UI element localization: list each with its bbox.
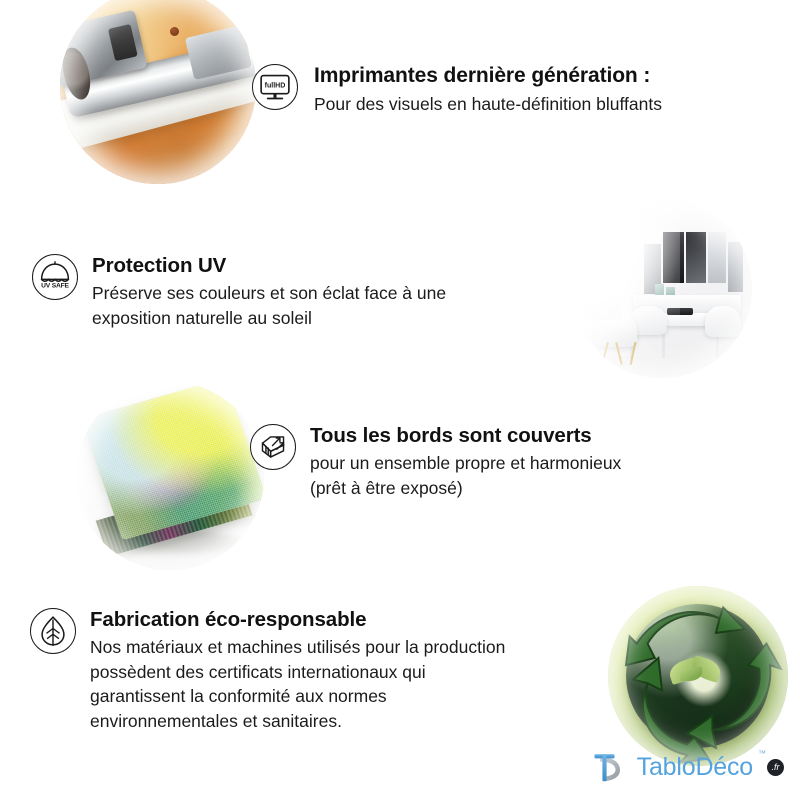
feature-eco-manufacturing-body: Nos matériaux et machines utilisés pour … (90, 635, 505, 733)
white-dining-room-canvas-panels-photo (572, 198, 752, 378)
feature-uv-protection-body: Préserve ses couleurs et son éclat face … (92, 281, 446, 330)
tld-badge: .fr (767, 759, 784, 776)
canvas-wrap-edges-icon (250, 424, 296, 470)
feature-eco-manufacturing-title: Fabrication éco-responsable (90, 608, 505, 632)
brand-logo[interactable]: TabloDéco ™ .fr (590, 748, 784, 786)
feature-uv-protection: UV SAFE Protection UV Préserve ses coule… (32, 254, 446, 330)
fullhd-label: fullHD (265, 83, 286, 90)
fullhd-monitor-icon: fullHD (252, 64, 298, 110)
uv-safe-parasol-icon: UV SAFE (32, 254, 78, 300)
feature-covered-edges-title: Tous les bords sont couverts (310, 424, 621, 448)
uv-safe-label: UV SAFE (41, 282, 69, 289)
brand-name: TabloDéco (637, 753, 753, 781)
canvas-corner-abstract-print-photo (76, 382, 264, 570)
leaf-sprout-icon (669, 658, 723, 683)
feature-printers-body: Pour des visuels en haute-définition blu… (314, 92, 662, 117)
green-earth-recycling-photo (608, 586, 788, 766)
feature-covered-edges: Tous les bords sont couverts pour un ens… (250, 424, 621, 500)
trademark-symbol: ™ (758, 750, 766, 758)
leaf-icon (30, 608, 76, 654)
feature-covered-edges-body: pour un ensemble propre et harmonieux (p… (310, 451, 621, 500)
td-monogram-icon (590, 748, 630, 786)
feature-eco-manufacturing: Fabrication éco-responsable Nos matériau… (30, 608, 505, 733)
feature-uv-protection-title: Protection UV (92, 254, 446, 278)
brand-wordmark: TabloDéco ™ (637, 755, 753, 780)
printer-roller-world-map-photo (60, 0, 256, 184)
feature-printers: fullHD Imprimantes dernière génération :… (252, 64, 662, 116)
product-benefits-infographic: fullHD Imprimantes dernière génération :… (0, 0, 800, 800)
feature-printers-title: Imprimantes dernière génération : (314, 64, 662, 89)
